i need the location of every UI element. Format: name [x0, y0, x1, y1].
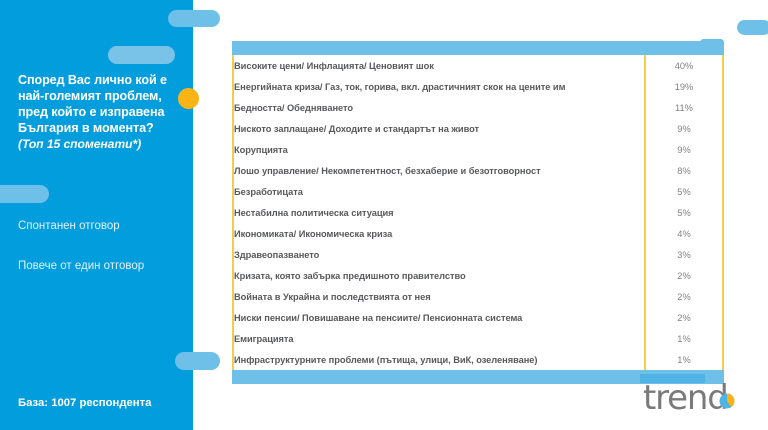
- row-percentage: 9%: [645, 139, 723, 160]
- table-row: Корупцията9%: [233, 139, 723, 160]
- row-percentage: 2%: [645, 286, 723, 307]
- decorative-orange-dot: [178, 88, 199, 109]
- table-row: Емиграцията1%: [233, 328, 723, 349]
- decorative-pill-top-right-small: [700, 39, 724, 46]
- row-label: Икономиката/ Икономическа криза: [233, 223, 645, 244]
- table-row: Войната в Украйна и последствията от нея…: [233, 286, 723, 307]
- decorative-pill-top-right-corner: [737, 20, 768, 35]
- results-table-container: Високите цени/ Инфлацията/ Ценовият шок4…: [232, 41, 724, 384]
- table-row: Инфраструктурните проблеми (пътища, улиц…: [233, 349, 723, 370]
- table-row: Кризата, която забърка предишното правит…: [233, 265, 723, 286]
- results-table: Високите цени/ Инфлацията/ Ценовият шок4…: [232, 55, 724, 370]
- table-row: Енергийната криза/ Газ, ток, горива, вкл…: [233, 76, 723, 97]
- row-label: Ниското заплащане/ Доходите и стандартът…: [233, 118, 645, 139]
- sidebar-panel: [0, 0, 193, 430]
- row-label: Кризата, която забърка предишното правит…: [233, 265, 645, 286]
- logo-wordmark: trend: [643, 381, 728, 415]
- trend-logo: trend: [640, 374, 760, 424]
- table-row: Нестабилна политическа ситуация5%: [233, 202, 723, 223]
- pie-chart-icon: [719, 393, 735, 409]
- decorative-pill-upper: [108, 46, 175, 64]
- row-label: Високите цени/ Инфлацията/ Ценовият шок: [233, 55, 645, 76]
- note-multiple-answers: Повече от един отговор: [18, 260, 188, 272]
- row-percentage: 8%: [645, 160, 723, 181]
- row-percentage: 1%: [645, 349, 723, 370]
- table-row: Лошо управление/ Некомпетентност, безхаб…: [233, 160, 723, 181]
- row-percentage: 4%: [645, 223, 723, 244]
- row-label: Корупцията: [233, 139, 645, 160]
- question-title: Според Вас лично кой е най-големият проб…: [18, 72, 178, 153]
- table-row: Бедността/ Обедняването11%: [233, 97, 723, 118]
- row-percentage: 2%: [645, 265, 723, 286]
- note-spontaneous-answer: Спонтанен отговор: [18, 220, 188, 232]
- table-row: Здравеопазването3%: [233, 244, 723, 265]
- row-label: Войната в Украйна и последствията от нея: [233, 286, 645, 307]
- row-label: Ниски пенсии/ Повишаване на пенсиите/ Пе…: [233, 307, 645, 328]
- row-percentage: 19%: [645, 76, 723, 97]
- row-label: Нестабилна политическа ситуация: [233, 202, 645, 223]
- row-percentage: 5%: [645, 181, 723, 202]
- row-percentage: 5%: [645, 202, 723, 223]
- question-main-text: Според Вас лично кой е най-големият проб…: [18, 73, 167, 135]
- row-label: Емиграцията: [233, 328, 645, 349]
- slide-root: Според Вас лично кой е най-големият проб…: [0, 0, 768, 430]
- decorative-pill-top-right-of-sidebar: [168, 10, 220, 27]
- table-row: Ниски пенсии/ Повишаване на пенсиите/ Пе…: [233, 307, 723, 328]
- row-percentage: 9%: [645, 118, 723, 139]
- table-row: Икономиката/ Икономическа криза4%: [233, 223, 723, 244]
- row-percentage: 11%: [645, 97, 723, 118]
- row-label: Енергийната криза/ Газ, ток, горива, вкл…: [233, 76, 645, 97]
- row-percentage: 2%: [645, 307, 723, 328]
- row-percentage: 1%: [645, 328, 723, 349]
- row-percentage: 3%: [645, 244, 723, 265]
- table-row: Високите цени/ Инфлацията/ Ценовият шок4…: [233, 55, 723, 76]
- row-percentage: 40%: [645, 55, 723, 76]
- row-label: Бедността/ Обедняването: [233, 97, 645, 118]
- table-row: Ниското заплащане/ Доходите и стандартът…: [233, 118, 723, 139]
- base-label: База: 1007 респондента: [18, 397, 151, 409]
- row-label: Лошо управление/ Некомпетентност, безхаб…: [233, 160, 645, 181]
- row-label: Безработицата: [233, 181, 645, 202]
- decorative-pill-bottom: [175, 352, 220, 370]
- row-label: Инфраструктурните проблеми (пътища, улиц…: [233, 349, 645, 370]
- decorative-pill-left: [0, 185, 49, 203]
- table-header-bar: [232, 41, 724, 55]
- row-label: Здравеопазването: [233, 244, 645, 265]
- table-row: Безработицата5%: [233, 181, 723, 202]
- question-subtitle-text: (Топ 15 споменати*): [18, 137, 178, 153]
